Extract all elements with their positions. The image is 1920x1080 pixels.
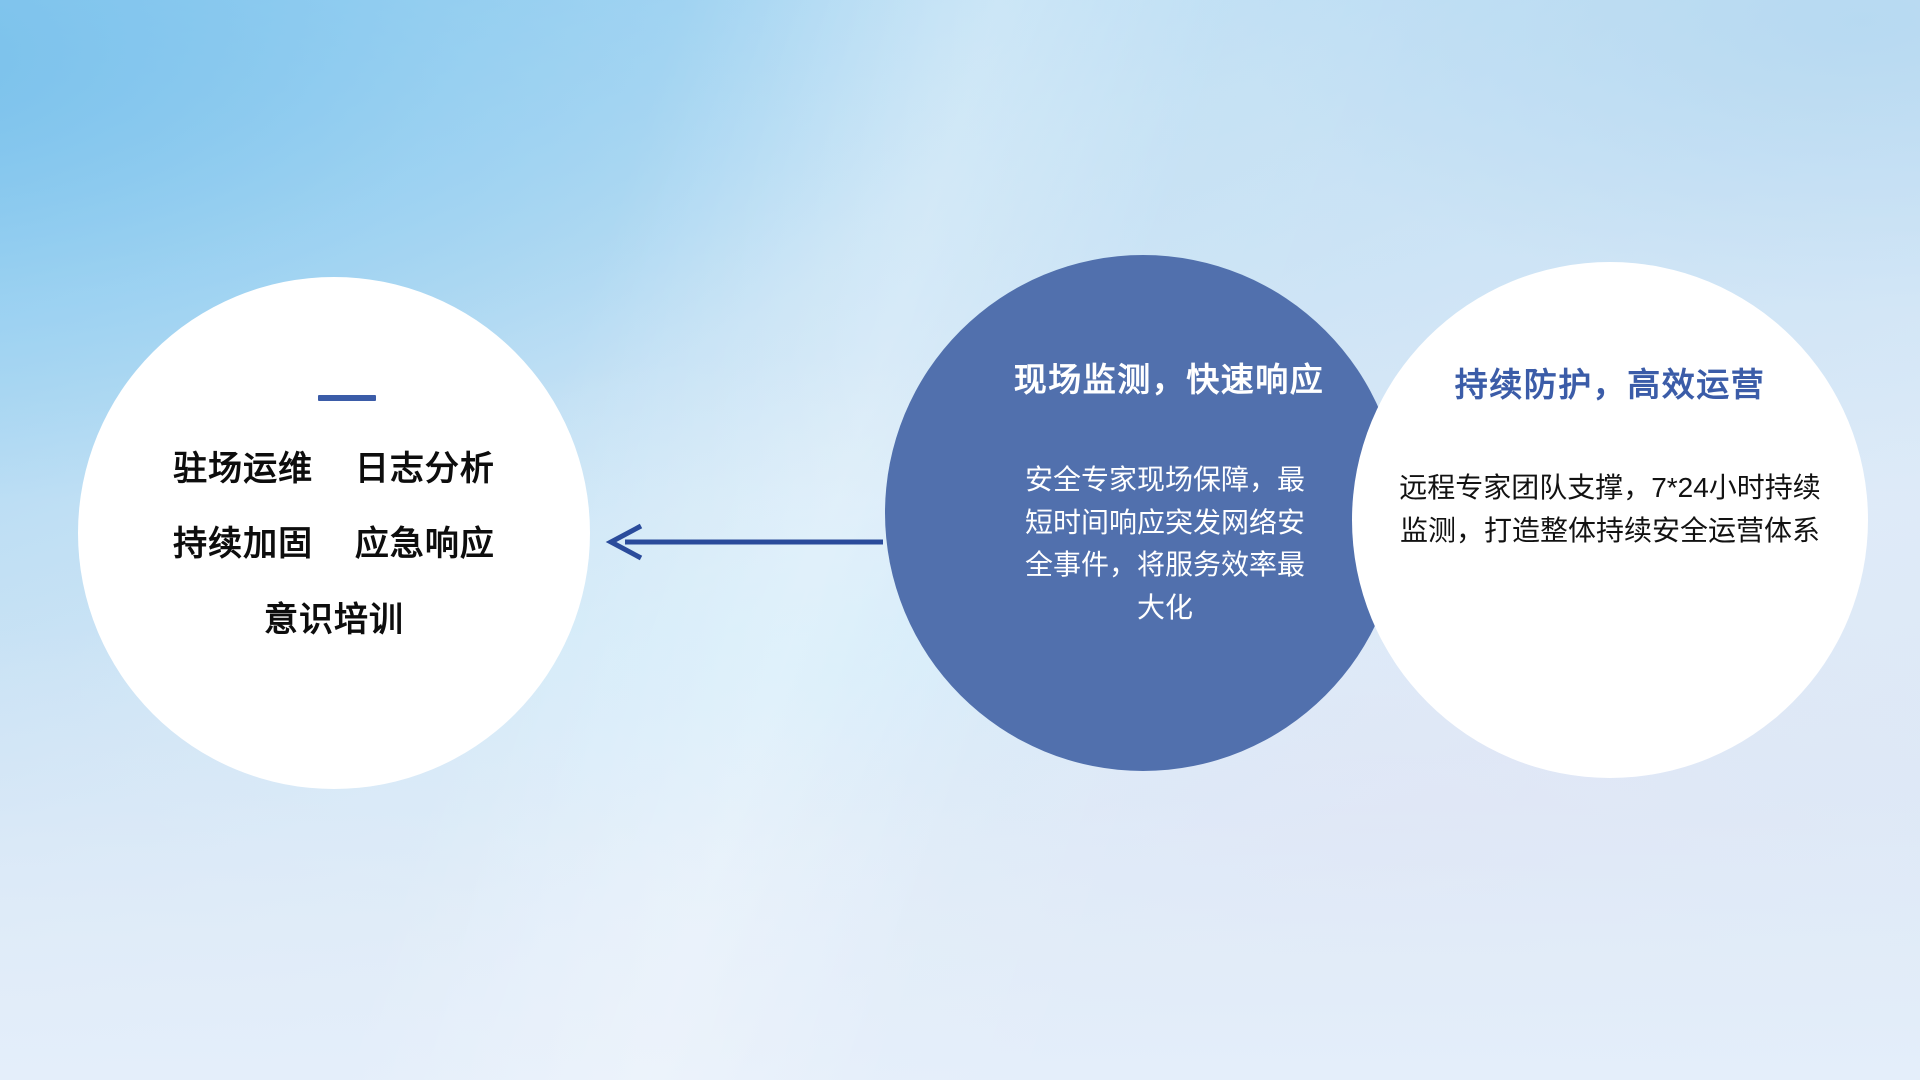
slide-canvas: 驻场运维 日志分析 持续加固 应急响应 意识培训 现场监测，快速响应 安全专家现… — [0, 0, 1920, 1080]
continuous-protection-content: 持续防护，高效运营 远程专家团队支撑，7*24小时持续监测，打造整体持续安全运营… — [1352, 262, 1868, 778]
continuous-protection-circle[interactable]: 持续防护，高效运营 远程专家团队支撑，7*24小时持续监测，打造整体持续安全运营… — [1352, 262, 1868, 778]
onsite-monitoring-body: 安全专家现场保障，最短时间响应突发网络安全事件，将服务效率最大化 — [1012, 459, 1318, 629]
capabilities-circle[interactable]: 驻场运维 日志分析 持续加固 应急响应 意识培训 — [78, 277, 590, 789]
continuous-protection-body: 远程专家团队支撑，7*24小时持续监测，打造整体持续安全运营体系 — [1394, 466, 1826, 553]
title-divider-line — [318, 395, 376, 401]
arrow-left-icon — [595, 518, 885, 566]
onsite-monitoring-content: 现场监测，快速响应 安全专家现场保障，最短时间响应突发网络安全事件，将服务效率最… — [885, 255, 1401, 771]
capabilities-circle-content: 驻场运维 日志分析 持续加固 应急响应 意识培训 — [78, 277, 590, 789]
capability-line-3: 意识培训 — [264, 600, 404, 641]
capability-line-1: 驻场运维 日志分析 — [173, 449, 495, 490]
onsite-monitoring-circle[interactable]: 现场监测，快速响应 安全专家现场保障，最短时间响应突发网络安全事件，将服务效率最… — [885, 255, 1401, 771]
capability-line-2: 持续加固 应急响应 — [173, 524, 495, 565]
continuous-protection-title: 持续防护，高效运营 — [1455, 358, 1766, 406]
onsite-monitoring-title: 现场监测，快速响应 — [1014, 353, 1325, 401]
